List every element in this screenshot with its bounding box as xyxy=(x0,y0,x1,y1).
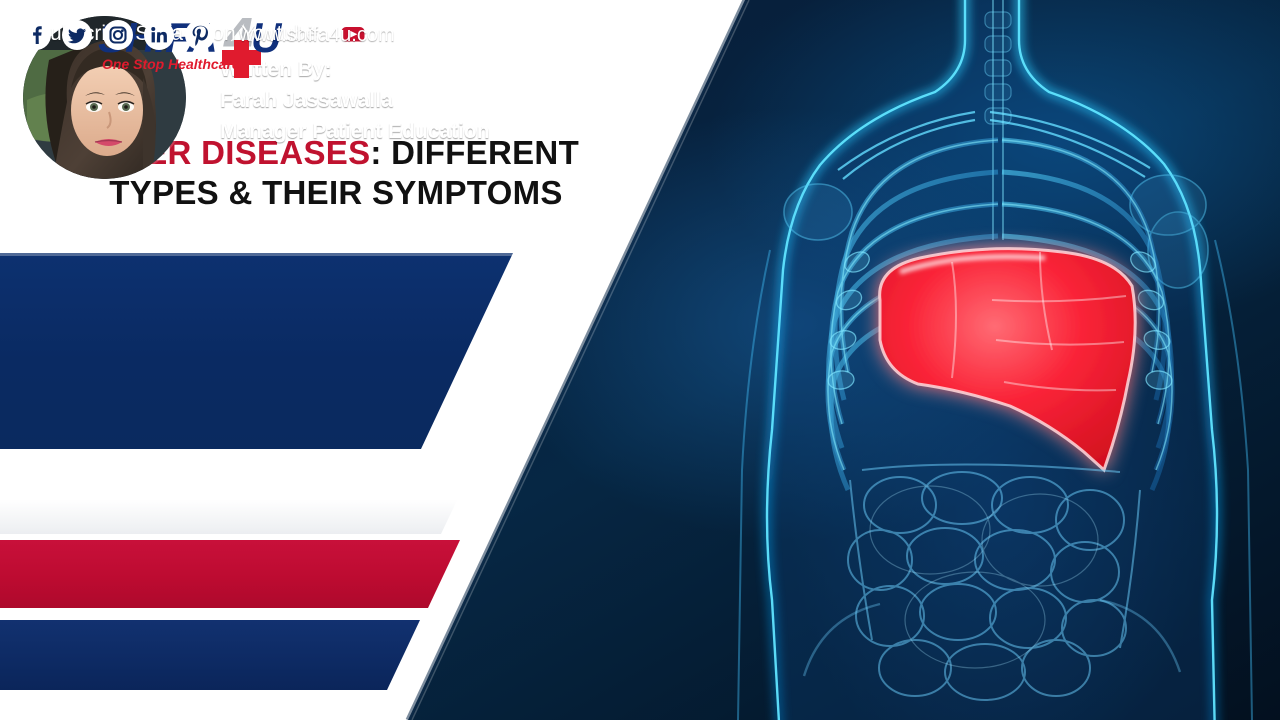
article-banner: LIVER DISEASES: DIFFERENT TYPES & THEIR … xyxy=(0,0,1280,720)
subscribe-bar[interactable] xyxy=(0,540,460,608)
author-bar-top-highlight xyxy=(0,253,513,256)
social-footer-bar xyxy=(0,620,420,690)
social-links: www.shifa4u.com xyxy=(20,0,395,70)
pinterest-icon[interactable] xyxy=(184,19,216,51)
title-line-2: TYPES & THEIR SYMPTOMS xyxy=(0,173,672,213)
website-url[interactable]: www.shifa4u.com xyxy=(239,24,395,47)
instagram-icon[interactable] xyxy=(102,19,134,51)
twitter-icon[interactable] xyxy=(61,19,93,51)
linkedin-icon[interactable] xyxy=(143,19,175,51)
author-role: Manager Patient Education xyxy=(220,116,490,147)
facebook-icon[interactable] xyxy=(20,19,52,51)
author-name: Farah Jassawalla xyxy=(220,85,490,116)
logo-strip xyxy=(0,452,480,534)
